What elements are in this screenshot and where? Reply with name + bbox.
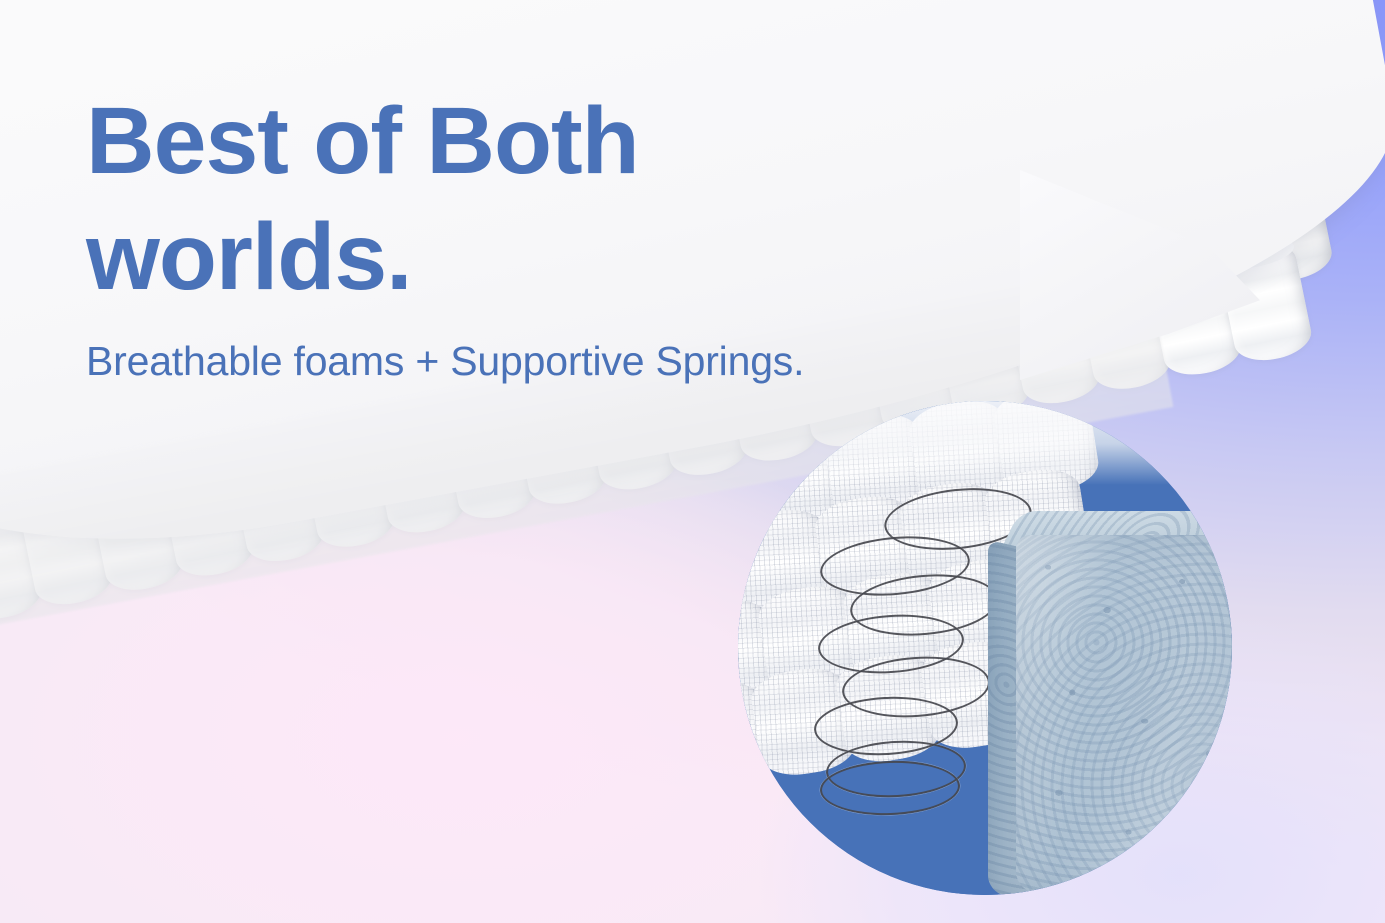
headline-line-1: Best of Both [86, 84, 986, 200]
subheadline: Breathable foams + Supportive Springs. [86, 338, 986, 385]
open-cell-foam-block [988, 511, 1232, 895]
hero-banner: Best of Both worlds. Breathable foams + … [0, 0, 1385, 923]
detail-circle [738, 401, 1232, 895]
detail-circle-top-bleed [738, 401, 1232, 485]
headline-line-2: worlds. [86, 200, 986, 316]
metal-coil-spring [796, 489, 1006, 819]
foam-block-sheen [1016, 535, 1232, 893]
headline-block: Best of Both worlds. Breathable foams + … [86, 84, 986, 385]
